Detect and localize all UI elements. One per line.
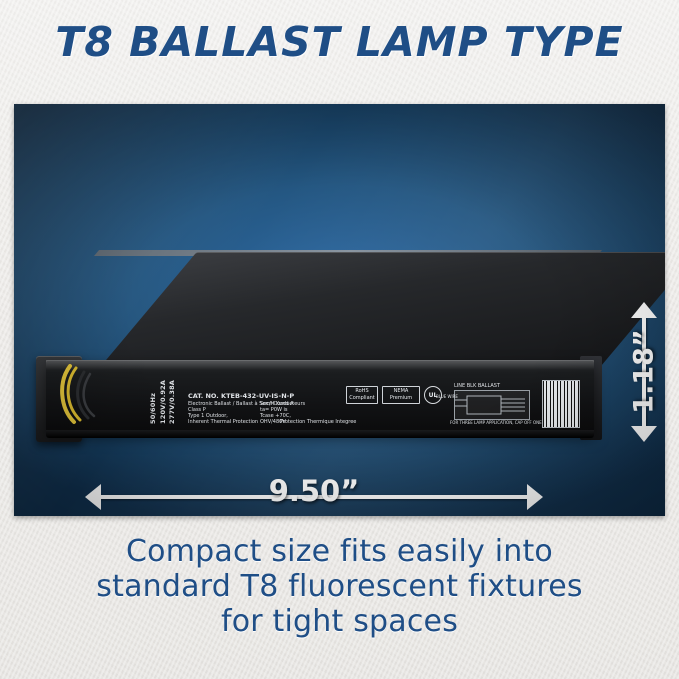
label-input-120v: 120V/0.92A bbox=[160, 380, 168, 424]
nema-premium-badge-icon: NEMA Premium bbox=[382, 386, 420, 404]
diagram-note: BLUE WIRE bbox=[436, 394, 458, 400]
product-label: 50/60Hz 120V/0.92A 277V/0.38A CAT. NO. K… bbox=[64, 364, 584, 430]
label-input-277v: 277V/0.38A bbox=[169, 380, 177, 424]
title-bar: T8 BALLAST LAMP TYPE bbox=[0, 18, 679, 66]
ballast-top-face bbox=[96, 252, 665, 372]
product-photo-panel: 50/60Hz 120V/0.92A 277V/0.38A CAT. NO. K… bbox=[14, 104, 665, 516]
length-value: 9.50” bbox=[99, 474, 529, 508]
caption-line-1: Compact size fits easily into bbox=[0, 534, 679, 569]
product-infographic: T8 BALLAST LAMP TYPE bbox=[0, 0, 679, 679]
wiring-diagram-title: LINE BLK BALLAST bbox=[454, 383, 500, 389]
arrow-down-icon bbox=[631, 426, 657, 442]
height-dimension: 1.18” bbox=[626, 316, 662, 428]
caption-line-2: standard T8 fluorescent fixtures bbox=[0, 569, 679, 604]
wiring-diagram-icon bbox=[454, 390, 530, 420]
height-value: 1.18” bbox=[629, 316, 660, 428]
length-dimension: 9.50” bbox=[99, 484, 529, 516]
caption-block: Compact size fits easily into standard T… bbox=[0, 534, 679, 639]
label-cat-no: CAT. NO. KTEB-432-UV-IS-N-P bbox=[188, 392, 294, 400]
arrow-right-icon bbox=[527, 484, 543, 510]
rohs-badge-icon: RoHS Compliant bbox=[346, 386, 378, 404]
label-spec-8: Protection Thermique Integree bbox=[280, 419, 356, 425]
page-title: T8 BALLAST LAMP TYPE bbox=[55, 18, 623, 66]
barcode-icon bbox=[542, 380, 580, 428]
label-frequency: 50/60Hz bbox=[150, 393, 158, 424]
caption-line-3: for tight spaces bbox=[0, 604, 679, 639]
label-spec-6: Inherent Thermal Protection bbox=[188, 419, 258, 425]
ballast-device: 50/60Hz 120V/0.92A 277V/0.38A CAT. NO. K… bbox=[36, 252, 616, 472]
wiring-note: FOR THREE LAMP APPLICATION, CAP OFF ONE bbox=[450, 420, 542, 426]
